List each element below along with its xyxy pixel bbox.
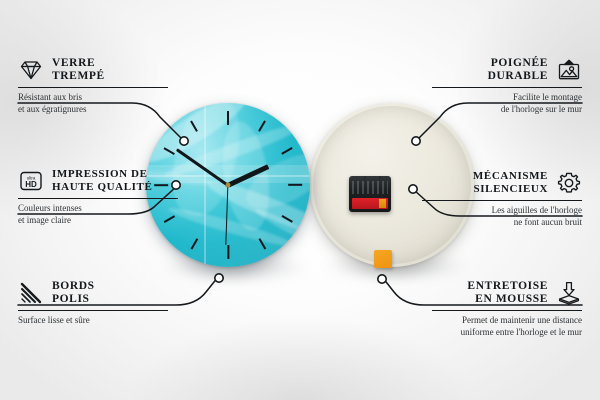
- ultra-hd-icon: ultra HD: [18, 168, 44, 194]
- feature-mecanisme-silencieux[interactable]: MÉCANISME SILENCIEUX Les aiguilles de l'…: [422, 170, 582, 228]
- feature-divider: [18, 310, 168, 311]
- feature-title-line1: ENTRETOISE: [467, 280, 548, 293]
- arrow-down-onto-pad-icon: [556, 280, 582, 306]
- feature-divider: [432, 87, 582, 88]
- feature-divider: [422, 200, 582, 201]
- feature-impression-haute-qualite[interactable]: ultra HD IMPRESSION DE HAUTE QUALITÉ Cou…: [18, 168, 178, 226]
- feature-title-line2: HAUTE QUALITÉ: [52, 181, 152, 194]
- feature-header: ultra HD IMPRESSION DE HAUTE QUALITÉ: [18, 168, 178, 194]
- diagonal-lines-icon: [18, 280, 44, 306]
- feature-divider: [18, 198, 178, 199]
- feature-header: ENTRETOISE EN MOUSSE: [432, 280, 582, 306]
- feature-description: Les aiguilles de l'horloge ne font aucun…: [422, 205, 582, 228]
- feature-description: Permet de maintenir une distance uniform…: [432, 315, 582, 338]
- feature-title-line1: VERRE: [52, 57, 105, 70]
- feature-description: Couleurs intenses et image claire: [18, 203, 178, 226]
- feature-poignee-durable[interactable]: POIGNÉE DURABLE Facilite le montage de l…: [432, 57, 582, 115]
- feature-description: Surface lisse et sûre: [18, 315, 168, 326]
- feature-title-line2: DURABLE: [488, 70, 548, 83]
- connector-dot-poignee[interactable]: [412, 137, 420, 145]
- feature-title-line2: POLIS: [52, 293, 95, 306]
- connector-dot-mecanisme[interactable]: [409, 185, 417, 193]
- feature-divider: [18, 87, 168, 88]
- feature-title-line2: SILENCIEUX: [473, 183, 548, 196]
- feature-title-line1: BORDS: [52, 280, 95, 293]
- feature-divider: [432, 310, 582, 311]
- feature-description: Facilite le montage de l'horloge sur le …: [432, 92, 582, 115]
- connector-dot-verre[interactable]: [180, 137, 188, 145]
- connector-dot-bords[interactable]: [215, 274, 223, 282]
- feature-entretoise-en-mousse[interactable]: ENTRETOISE EN MOUSSE Permet de maintenir…: [432, 280, 582, 338]
- feature-title-line2: TREMPÉ: [52, 70, 105, 83]
- feature-header: POIGNÉE DURABLE: [432, 57, 582, 83]
- diamond-icon: [18, 57, 44, 83]
- feature-verre-trempe[interactable]: VERRE TREMPÉ Résistant aux bris et aux é…: [18, 57, 168, 115]
- picture-frame-hanger-icon: [556, 57, 582, 83]
- feature-title-line1: POIGNÉE: [488, 57, 548, 70]
- feature-header: MÉCANISME SILENCIEUX: [422, 170, 582, 196]
- connector-dot-entretoise[interactable]: [378, 275, 386, 283]
- gear-icon: [556, 170, 582, 196]
- svg-text:HD: HD: [25, 180, 37, 189]
- feature-bords-polis[interactable]: BORDS POLIS Surface lisse et sûre: [18, 280, 168, 327]
- feature-header: BORDS POLIS: [18, 280, 168, 306]
- feature-description: Résistant aux bris et aux égratignures: [18, 92, 168, 115]
- feature-title-line1: MÉCANISME: [473, 170, 548, 183]
- infographic-canvas: VERRE TREMPÉ Résistant aux bris et aux é…: [0, 0, 600, 400]
- feature-header: VERRE TREMPÉ: [18, 57, 168, 83]
- feature-title-line2: EN MOUSSE: [467, 293, 548, 306]
- feature-title-line1: IMPRESSION DE: [52, 168, 152, 181]
